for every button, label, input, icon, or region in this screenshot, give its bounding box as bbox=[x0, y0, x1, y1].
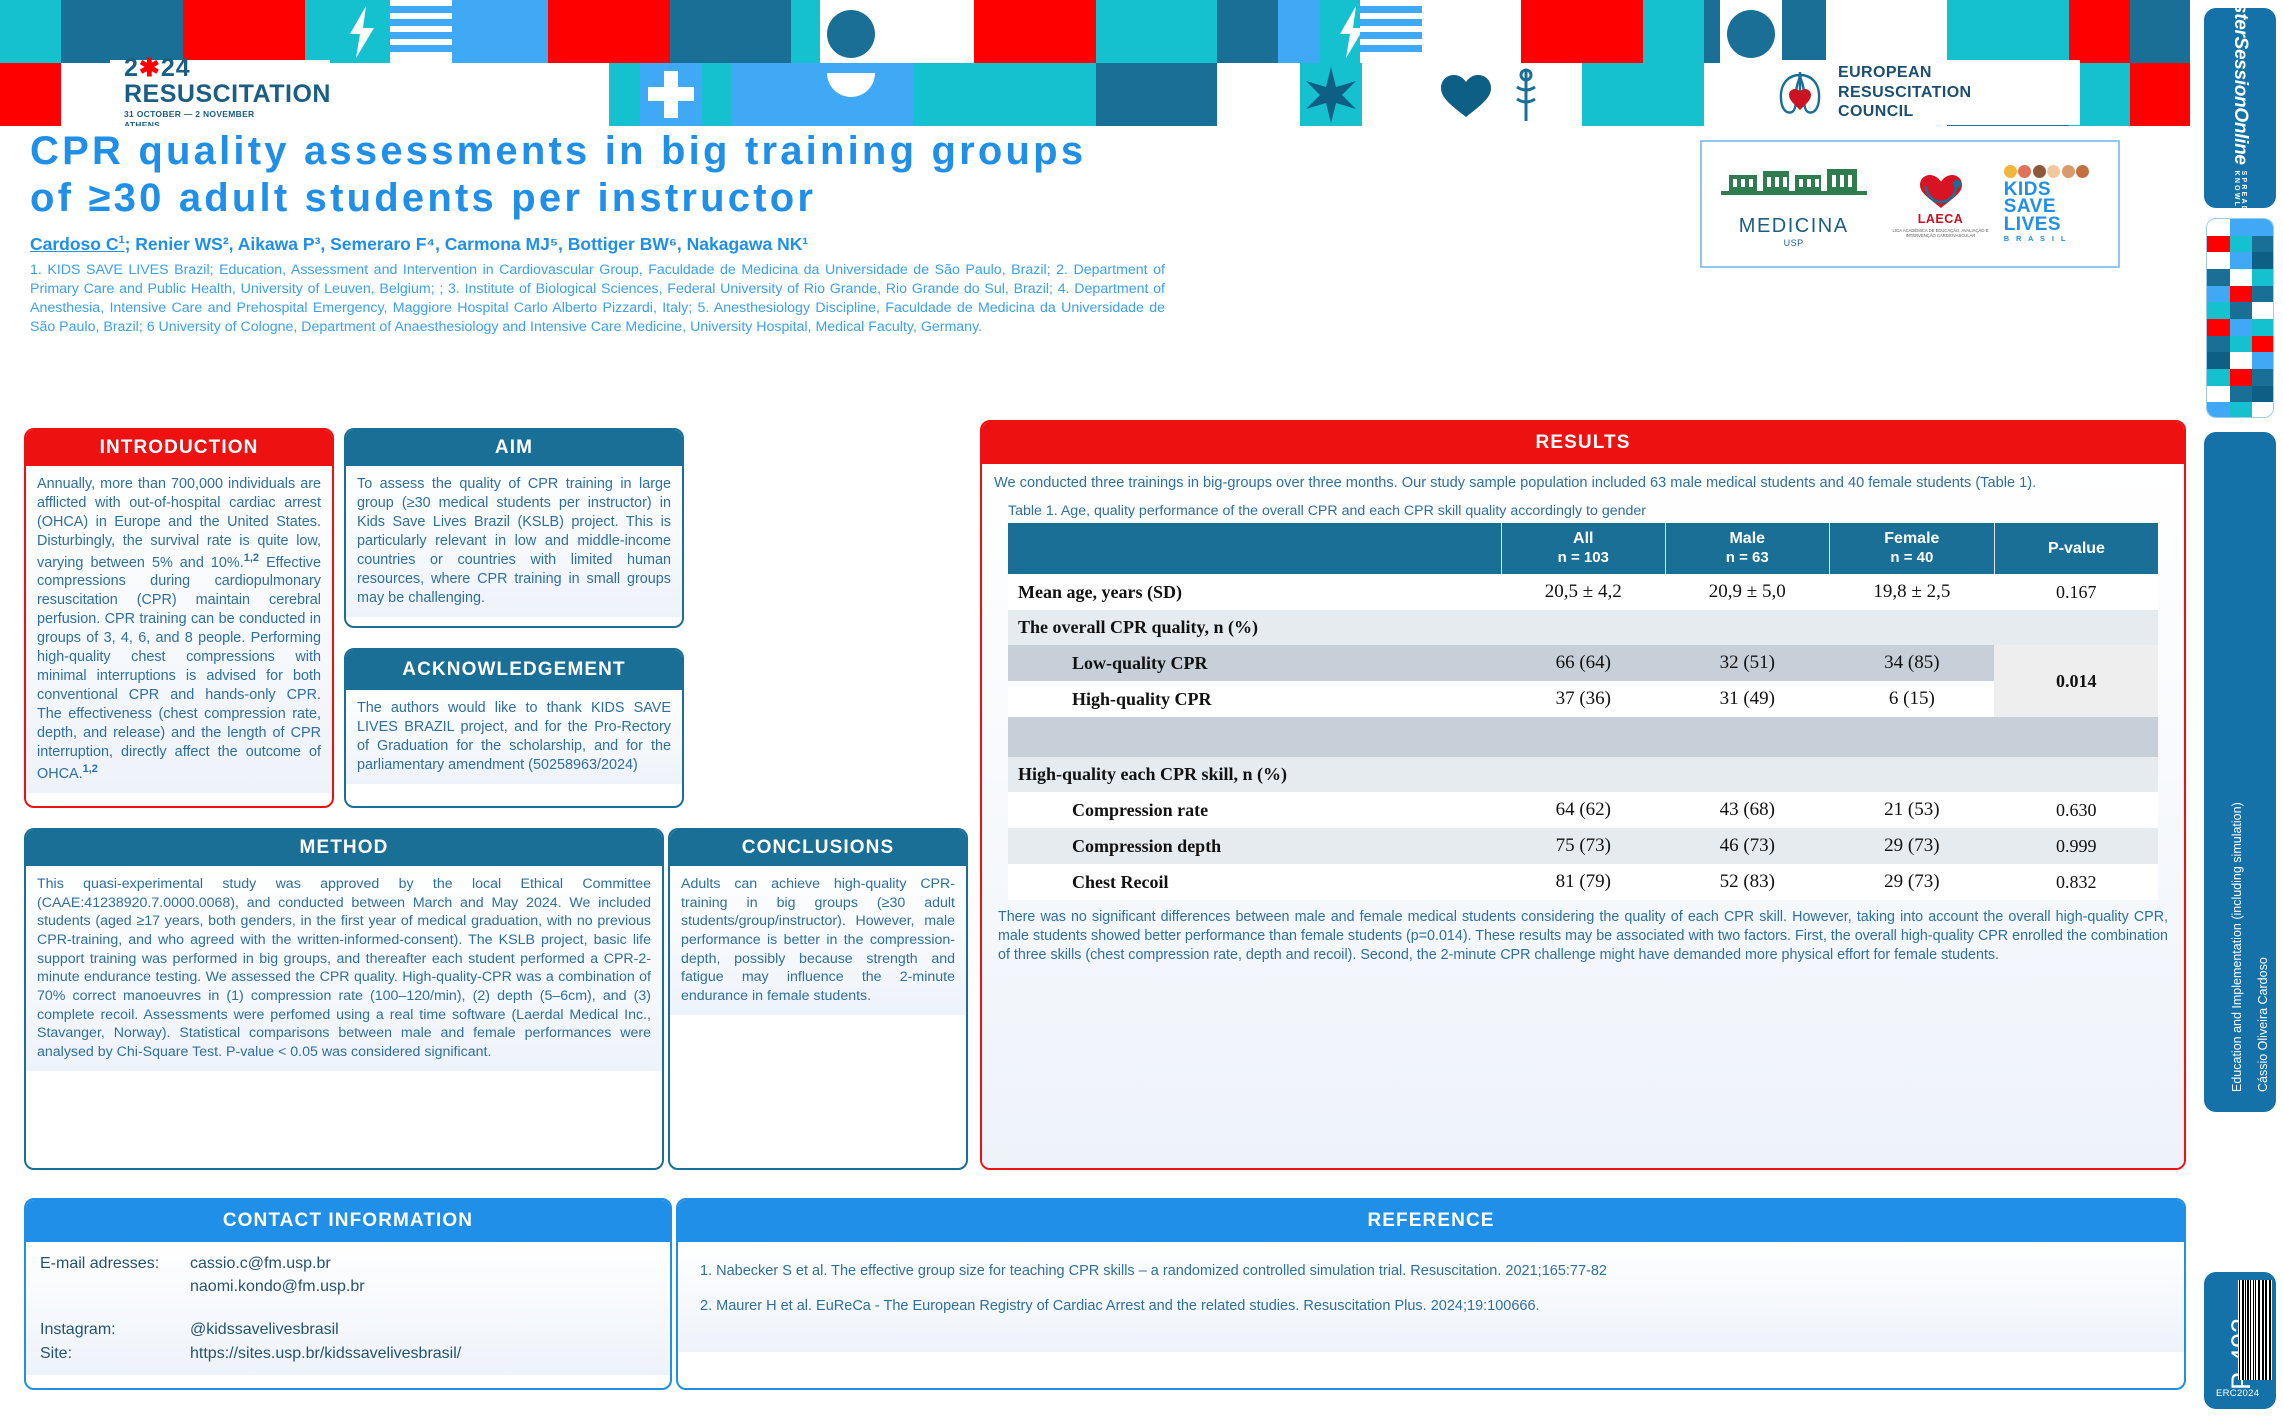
stripes-icon bbox=[1360, 0, 1422, 63]
acknowledgement-body: The authors would like to thank KIDS SAV… bbox=[346, 690, 682, 784]
banner-tile bbox=[669, 0, 730, 63]
banner-tile bbox=[487, 63, 548, 126]
table-cell: 52 (83) bbox=[1665, 864, 1829, 900]
table-cell: 20,5 ± 4,2 bbox=[1501, 574, 1665, 610]
table-cell bbox=[1829, 757, 1994, 792]
sidebar-mosaic-tile bbox=[2252, 286, 2274, 303]
sidebar-mosaic-tile bbox=[2252, 302, 2274, 319]
star-icon bbox=[1300, 63, 1362, 126]
barcode-bar bbox=[2250, 1280, 2251, 1380]
contact-spacer bbox=[40, 1298, 656, 1318]
banner-tile bbox=[1886, 0, 1947, 63]
table-cell: 19,8 ± 2,5 bbox=[1829, 574, 1994, 610]
results-heading: RESULTS bbox=[982, 422, 2184, 464]
table-row: Chest Recoil81 (79)52 (83)29 (73)0.832 bbox=[1008, 864, 2158, 900]
faculty-building-icon bbox=[1719, 161, 1869, 215]
barcode-bar bbox=[2239, 1280, 2240, 1380]
banner-tile bbox=[61, 0, 122, 63]
email-value-2[interactable]: naomi.kondo@fm.usp.br bbox=[40, 1275, 656, 1298]
barcode-bar bbox=[2265, 1280, 2267, 1380]
table-cell: 0.832 bbox=[1994, 864, 2158, 900]
sidebar-mosaic-tile bbox=[2230, 219, 2253, 236]
sidebar-mosaic-tile bbox=[2207, 286, 2230, 303]
introduction-ref-2: 1,2 bbox=[83, 763, 98, 775]
erc-line-3: COUNCIL bbox=[1838, 102, 1972, 122]
erc-logo-text: EUROPEAN RESUSCITATION COUNCIL bbox=[1838, 63, 1972, 122]
banner-tile bbox=[730, 0, 791, 63]
table-cell: Low-quality CPR bbox=[1008, 645, 1501, 681]
banner-tile bbox=[1156, 63, 1217, 126]
section-results: RESULTS We conducted three trainings in … bbox=[980, 420, 2186, 1170]
sidebar-mosaic-tile bbox=[2230, 386, 2253, 403]
sidebar-mosaic-tile bbox=[2207, 352, 2230, 369]
erc-line-2: RESUSCITATION bbox=[1838, 83, 1972, 103]
poster-session-online-chip: PosterSessionOnline SPREADING KNOWLEDGE bbox=[2204, 8, 2276, 208]
sidebar-mosaic-tile bbox=[2252, 236, 2274, 253]
erc-logo: EUROPEAN RESUSCITATION COUNCIL bbox=[1760, 60, 2080, 125]
table-cell: 0.999 bbox=[1994, 828, 2158, 864]
logo-dates: 31 OCTOBER — 2 NOVEMBER bbox=[124, 109, 410, 119]
table-cell: 0.014 bbox=[1994, 645, 2158, 717]
banner-tile bbox=[1582, 0, 1643, 63]
sidebar-mosaic-tile bbox=[2252, 386, 2274, 403]
sidebar-mosaic-tile bbox=[2207, 402, 2230, 418]
logo-city: ATHENS bbox=[124, 120, 410, 126]
sidebar-mosaic-tile bbox=[2252, 402, 2274, 418]
sidebar-presenter-label: Cássio Oliveira Cardoso bbox=[2256, 957, 2270, 1092]
circle-icon bbox=[820, 0, 882, 63]
banner-tile bbox=[487, 0, 548, 63]
cross-icon bbox=[640, 63, 702, 126]
banner-tile bbox=[1643, 0, 1704, 63]
usp-label: USP bbox=[1784, 238, 1804, 248]
contact-body: E-mail adresses: cassio.c@fm.usp.br naom… bbox=[26, 1242, 670, 1375]
sidebar-mosaic-tile bbox=[2230, 352, 2253, 369]
banner-tile bbox=[1703, 63, 1764, 126]
section-aim: AIM To assess the quality of CPR trainin… bbox=[344, 428, 684, 628]
banner-tile bbox=[1643, 63, 1704, 126]
erc-line-1: EUROPEAN bbox=[1838, 63, 1972, 83]
table-row: High-quality CPR37 (36)31 (49)6 (15) bbox=[1008, 681, 2158, 717]
sidebar-mosaic-tile bbox=[2252, 319, 2274, 336]
first-author: Cardoso C1 bbox=[30, 234, 125, 254]
halfcircle-icon bbox=[820, 63, 882, 126]
table-cell: 46 (73) bbox=[1665, 828, 1829, 864]
sidebar-mosaic-tile bbox=[2230, 369, 2253, 386]
barcode-bar bbox=[2262, 1280, 2264, 1380]
medicina-usp-logo: MEDICINA USP bbox=[1710, 161, 1877, 248]
table-col-header: P-value bbox=[1994, 523, 2158, 574]
banner-tile bbox=[913, 63, 974, 126]
instagram-label: Instagram: bbox=[40, 1318, 190, 1341]
sidebar-mosaic-thumbnail bbox=[2206, 218, 2274, 418]
banner-tile bbox=[2129, 0, 2190, 63]
col-header-sublabel: n = 40 bbox=[1834, 549, 1990, 568]
table-row: The overall CPR quality, n (%) bbox=[1008, 610, 2158, 645]
banner-tile bbox=[1825, 0, 1886, 63]
medicina-label: MEDICINA bbox=[1739, 215, 1849, 238]
page-title: CPR quality assessments in big training … bbox=[30, 128, 1690, 222]
table-col-header bbox=[1008, 523, 1501, 574]
table-col-header: Femalen = 40 bbox=[1829, 523, 1994, 574]
barcode-bar bbox=[2247, 1280, 2248, 1380]
circle-icon bbox=[1720, 0, 1782, 63]
sidebar-mosaic-tile bbox=[2230, 269, 2253, 286]
banner-tile bbox=[1217, 63, 1278, 126]
aim-body: To assess the quality of CPR training in… bbox=[346, 466, 682, 617]
table-cell: 29 (73) bbox=[1829, 864, 1994, 900]
table-cell: The overall CPR quality, n (%) bbox=[1008, 610, 1501, 645]
email-label: E-mail adresses: bbox=[40, 1252, 190, 1275]
table-row: Mean age, years (SD)20,5 ± 4,220,9 ± 5,0… bbox=[1008, 574, 2158, 610]
sidebar-mosaic-tile bbox=[2230, 252, 2253, 269]
poster-sidebar: PosterSessionOnline SPREADING KNOWLEDGE … bbox=[2196, 0, 2283, 1417]
table-cell: 21 (53) bbox=[1829, 792, 1994, 828]
event-tag-label: ERC2024 bbox=[2216, 1388, 2259, 1399]
sidebar-mosaic-tile bbox=[2207, 336, 2230, 353]
banner-tile bbox=[2068, 0, 2129, 63]
table-cell: 20,9 ± 5,0 bbox=[1665, 574, 1829, 610]
table-cell: Chest Recoil bbox=[1008, 864, 1501, 900]
brasil-label: B R A S I L bbox=[2004, 236, 2068, 243]
reference-heading: REFERENCE bbox=[678, 1200, 2184, 1242]
affiliations: 1. KIDS SAVE LIVES Brazil; Education, As… bbox=[30, 261, 1165, 336]
table-cell bbox=[1994, 757, 2158, 792]
introduction-body: Annually, more than 700,000 individuals … bbox=[26, 466, 332, 793]
table-col-header: Alln = 103 bbox=[1501, 523, 1665, 574]
table-row bbox=[1008, 717, 2158, 757]
table-cell: 66 (64) bbox=[1501, 645, 1665, 681]
sidebar-topic-label: Education and Implementation (including … bbox=[2230, 802, 2244, 1092]
results-body: We conducted three trainings in big-grou… bbox=[982, 464, 2184, 1168]
table-cell bbox=[1994, 610, 2158, 645]
col-header-sublabel: n = 103 bbox=[1506, 549, 1661, 568]
banner-tile bbox=[548, 0, 609, 63]
banner-tile bbox=[1460, 0, 1521, 63]
banner-tile bbox=[1034, 63, 1095, 126]
table-row: Compression depth75 (73)46 (73)29 (73)0.… bbox=[1008, 828, 2158, 864]
reference-item: 2. Maurer H et al. EuReCa - The European… bbox=[700, 1297, 2162, 1316]
kids-save-lives-logo: KIDS SAVE LIVES B R A S I L bbox=[2004, 165, 2110, 243]
introduction-text-2: Effective compressions during cardiopulm… bbox=[37, 555, 321, 782]
sidebar-mosaic-tile bbox=[2207, 252, 2230, 269]
sidebar-mosaic-tile bbox=[2252, 252, 2274, 269]
table-cell bbox=[1829, 717, 1994, 757]
contact-heading: CONTACT INFORMATION bbox=[26, 1200, 670, 1242]
banner-tile bbox=[2129, 63, 2190, 126]
logo-name: RESUSCITATION bbox=[124, 81, 410, 107]
table-cell: Compression rate bbox=[1008, 792, 1501, 828]
conclusions-body: Adults can achieve high-quality CPR-trai… bbox=[670, 866, 966, 1015]
banner-tile bbox=[1095, 63, 1156, 126]
heart-icon bbox=[1435, 63, 1497, 126]
banner-tile bbox=[2008, 0, 2069, 63]
sidebar-mosaic-tile bbox=[2207, 236, 2230, 253]
banner-tile bbox=[0, 63, 61, 126]
reference-body: 1. Nabecker S et al. The effective group… bbox=[678, 1242, 2184, 1352]
table-header-row: Alln = 103Malen = 63Femalen = 40P-value bbox=[1008, 523, 2158, 574]
sidebar-mosaic-tile bbox=[2207, 319, 2230, 336]
rod-icon bbox=[1495, 63, 1557, 126]
sidebar-mosaic-tile bbox=[2252, 219, 2274, 236]
table-row: High-quality each CPR skill, n (%) bbox=[1008, 757, 2158, 792]
banner-tile bbox=[0, 0, 61, 63]
sidebar-mosaic-tile bbox=[2230, 236, 2253, 253]
acknowledgement-heading: ACKNOWLEDGEMENT bbox=[346, 650, 682, 690]
sidebar-mosaic-tile bbox=[2252, 369, 2274, 386]
banner-tile bbox=[1156, 0, 1217, 63]
barcode-icon bbox=[2238, 1280, 2272, 1380]
institution-logos-panel: MEDICINA USP LAECA LIGA ACADÊMICA DE EDU… bbox=[1700, 140, 2120, 268]
table-cell bbox=[1665, 717, 1829, 757]
banner-tile bbox=[1521, 0, 1582, 63]
table-caption: Table 1. Age, quality performance of the… bbox=[1008, 503, 2172, 519]
table-cell bbox=[1501, 717, 1665, 757]
table-cell bbox=[1665, 610, 1829, 645]
table-cell bbox=[1501, 757, 1665, 792]
col-header-label: Female bbox=[1834, 529, 1990, 549]
lungs-heart-icon bbox=[1774, 66, 1826, 120]
barcode-bar bbox=[2253, 1280, 2254, 1380]
laeca-sublabel: LIGA ACADÊMICA DE EDUCAÇÃO, AVALIAÇÃO E … bbox=[1887, 228, 1993, 239]
email-value-1[interactable]: cassio.c@fm.usp.br bbox=[190, 1252, 331, 1275]
banner-tile bbox=[730, 63, 791, 126]
table-cell bbox=[1665, 757, 1829, 792]
sidebar-mosaic-tile bbox=[2230, 302, 2253, 319]
heart-stethoscope-icon bbox=[1904, 170, 1978, 212]
psol-name: PosterSessionOnline bbox=[2229, 0, 2251, 165]
banner-tile bbox=[1582, 63, 1643, 126]
banner-tile bbox=[243, 0, 304, 63]
col-header-label: P-value bbox=[1999, 539, 2154, 559]
banner-tile bbox=[548, 63, 609, 126]
site-label: Site: bbox=[40, 1342, 190, 1365]
table-cell bbox=[1501, 610, 1665, 645]
table-row: Compression rate64 (62)43 (68)21 (53)0.6… bbox=[1008, 792, 2158, 828]
table-col-header: Malen = 63 bbox=[1665, 523, 1829, 574]
sidebar-mosaic-tile bbox=[2252, 269, 2274, 286]
poster-code-chip: P-493 ERC2024 bbox=[2204, 1272, 2276, 1409]
table-cell: 0.167 bbox=[1994, 574, 2158, 610]
banner-tile bbox=[1217, 0, 1278, 63]
section-acknowledgement: ACKNOWLEDGEMENT The authors would like t… bbox=[344, 648, 684, 808]
sidebar-mosaic-tile bbox=[2207, 302, 2230, 319]
lives-label: LIVES bbox=[2004, 216, 2061, 233]
banner-tile bbox=[973, 63, 1034, 126]
section-contact-information: CONTACT INFORMATION E-mail adresses: cas… bbox=[24, 1198, 672, 1390]
table-cell: High-quality each CPR skill, n (%) bbox=[1008, 757, 1501, 792]
introduction-heading: INTRODUCTION bbox=[26, 430, 332, 466]
section-introduction: INTRODUCTION Annually, more than 700,000… bbox=[24, 428, 334, 808]
barcode-bar bbox=[2242, 1280, 2244, 1380]
sidebar-mosaic-tile bbox=[2230, 402, 2253, 418]
table-cell: 75 (73) bbox=[1501, 828, 1665, 864]
results-table-head: Alln = 103Malen = 63Femalen = 40P-value bbox=[1008, 523, 2158, 574]
author-list: Cardoso C1; Renier WS², Aikawa P³, Semer… bbox=[30, 234, 1690, 255]
banner-tile bbox=[973, 0, 1034, 63]
children-faces-icon bbox=[2004, 165, 2090, 178]
barcode-bar bbox=[2255, 1280, 2257, 1380]
sidebar-mosaic-tile bbox=[2230, 319, 2253, 336]
banner-tile bbox=[608, 0, 669, 63]
table-cell: 81 (79) bbox=[1501, 864, 1665, 900]
banner-tile bbox=[426, 63, 487, 126]
col-header-label: Male bbox=[1670, 529, 1825, 549]
table-cell: 34 (85) bbox=[1829, 645, 1994, 681]
table-cell: 32 (51) bbox=[1665, 645, 1829, 681]
poster-session-online-label: PosterSessionOnline SPREADING KNOWLEDGE bbox=[2204, 8, 2276, 208]
banner-tile bbox=[183, 0, 244, 63]
contact-site-row: Site: https://sites.usp.br/kidssavelives… bbox=[40, 1342, 656, 1365]
site-value[interactable]: https://sites.usp.br/kidssavelivesbrasil… bbox=[190, 1342, 461, 1365]
results-table: Alln = 103Malen = 63Femalen = 40P-value … bbox=[1008, 523, 2158, 900]
conclusions-heading: CONCLUSIONS bbox=[670, 830, 966, 866]
col-header-sublabel: n = 63 bbox=[1670, 549, 1825, 568]
barcode-bar bbox=[2258, 1280, 2260, 1380]
banner-tile bbox=[1095, 0, 1156, 63]
sidebar-mosaic-tile bbox=[2252, 352, 2274, 369]
table-cell bbox=[1829, 610, 1994, 645]
instagram-value[interactable]: @kidssavelivesbrasil bbox=[190, 1318, 339, 1341]
sidebar-mosaic-tile bbox=[2207, 369, 2230, 386]
results-intro-text: We conducted three trainings in big-grou… bbox=[994, 474, 2172, 493]
section-method: METHOD This quasi-experimental study was… bbox=[24, 828, 664, 1170]
laeca-logo: LAECA LIGA ACADÊMICA DE EDUCAÇÃO, AVALIA… bbox=[1887, 170, 1993, 239]
table-cell: 31 (49) bbox=[1665, 681, 1829, 717]
other-authors: ; Renier WS², Aikawa P³, Semeraro F⁴, Ca… bbox=[125, 234, 809, 254]
sidebar-mosaic-tile bbox=[2207, 386, 2230, 403]
barcode-bar bbox=[2245, 1280, 2246, 1380]
table-cell: 37 (36) bbox=[1501, 681, 1665, 717]
banner-tile bbox=[913, 0, 974, 63]
poster-root: 2✱24 RESUSCITATION 31 OCTOBER — 2 NOVEMB… bbox=[0, 0, 2283, 1417]
table-cell: 64 (62) bbox=[1501, 792, 1665, 828]
results-footer-text: There was no significant differences bet… bbox=[994, 908, 2172, 965]
sidebar-mosaic-tile bbox=[2207, 219, 2230, 236]
table-cell: 6 (15) bbox=[1829, 681, 1994, 717]
col-header-label: All bbox=[1506, 529, 1661, 549]
method-heading: METHOD bbox=[26, 830, 662, 866]
contact-email-row: E-mail adresses: cassio.c@fm.usp.br bbox=[40, 1252, 656, 1275]
table-cell: Compression depth bbox=[1008, 828, 1501, 864]
table-row: Low-quality CPR66 (64)32 (51)34 (85)0.01… bbox=[1008, 645, 2158, 681]
sidebar-mosaic-tile bbox=[2230, 286, 2253, 303]
sidebar-mosaic-tile bbox=[2207, 269, 2230, 286]
sidebar-topic-chip: Education and Implementation (including … bbox=[2204, 432, 2276, 1112]
laeca-label: LAECA bbox=[1918, 212, 1964, 226]
table-cell: Mean age, years (SD) bbox=[1008, 574, 1501, 610]
aim-heading: AIM bbox=[346, 430, 682, 466]
method-body: This quasi-experimental study was approv… bbox=[26, 866, 662, 1071]
sidebar-mosaic-tile bbox=[2230, 336, 2253, 353]
contact-instagram-row: Instagram: @kidssavelivesbrasil bbox=[40, 1318, 656, 1341]
reference-item: 1. Nabecker S et al. The effective group… bbox=[700, 1262, 2162, 1281]
table-cell: 29 (73) bbox=[1829, 828, 1994, 864]
sidebar-mosaic-tile bbox=[2252, 336, 2274, 353]
introduction-ref-1: 1,2 bbox=[244, 552, 259, 564]
conference-banner: 2✱24 RESUSCITATION 31 OCTOBER — 2 NOVEMB… bbox=[0, 0, 2190, 126]
banner-tile bbox=[1034, 0, 1095, 63]
table-cell bbox=[1994, 717, 2158, 757]
section-conclusions: CONCLUSIONS Adults can achieve high-qual… bbox=[668, 828, 968, 1170]
stripes-icon bbox=[390, 0, 452, 63]
banner-tile bbox=[1947, 0, 2008, 63]
resuscitation-2024-logo: 2✱24 RESUSCITATION 31 OCTOBER — 2 NOVEMB… bbox=[110, 60, 410, 126]
section-reference: REFERENCE 1. Nabecker S et al. The effec… bbox=[676, 1198, 2186, 1390]
barcode-bar bbox=[2269, 1280, 2271, 1380]
table-cell: 43 (68) bbox=[1665, 792, 1829, 828]
results-table-body: Mean age, years (SD)20,5 ± 4,220,9 ± 5,0… bbox=[1008, 574, 2158, 900]
table-cell: High-quality CPR bbox=[1008, 681, 1501, 717]
title-block: CPR quality assessments in big training … bbox=[30, 128, 1690, 336]
bolt-icon bbox=[330, 0, 392, 63]
table-cell bbox=[1008, 717, 1501, 757]
table-cell: 0.630 bbox=[1994, 792, 2158, 828]
